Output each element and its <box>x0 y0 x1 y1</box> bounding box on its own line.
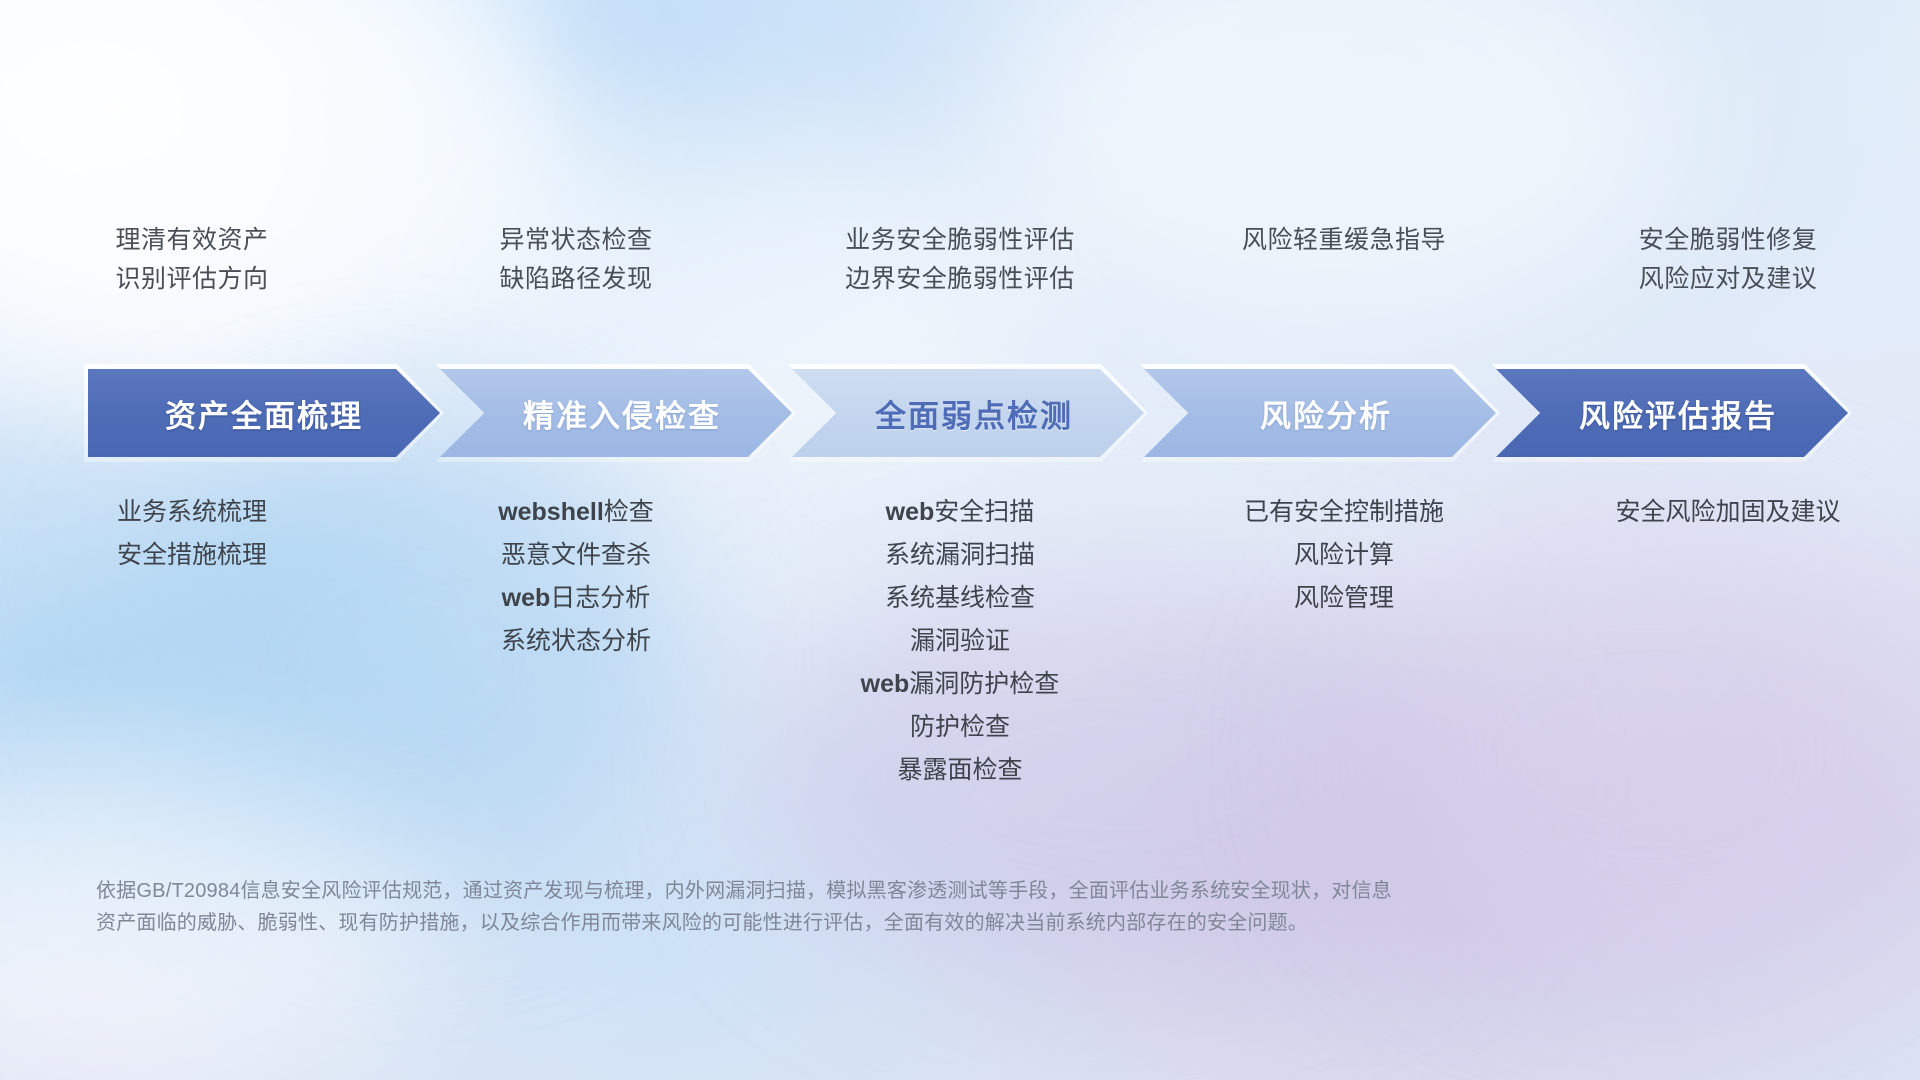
detail-item: 业务系统梳理 <box>117 500 267 525</box>
detail-item: 暴露面检查 <box>897 758 1022 783</box>
stage-chevron-1[interactable]: 资产全面梳理 <box>88 369 440 457</box>
detail-item: 系统状态分析 <box>501 629 651 654</box>
top-caption-group-5: 安全脆弱性修复风险应对及建议 <box>1536 228 1920 338</box>
stage-chevron-3[interactable]: 全面弱点检测 <box>792 369 1144 457</box>
stage-label: 精准入侵检查 <box>511 391 721 436</box>
detail-item: 风险计算 <box>1294 543 1394 568</box>
detail-item: 恶意文件查杀 <box>501 543 651 568</box>
detail-list-1: 业务系统梳理安全措施梳理 <box>0 500 384 568</box>
detail-item: webshell检查 <box>498 500 654 525</box>
footer-description: 依据GB/T20984信息安全风险评估规范，通过资产发现与梳理，内外网漏洞扫描，… <box>96 875 1596 940</box>
detail-item: web安全扫描 <box>886 500 1035 525</box>
top-caption: 缺陷路径发现 <box>499 267 652 292</box>
detail-list-3: web安全扫描系统漏洞扫描系统基线检查漏洞验证web漏洞防护检查防护检查暴露面检… <box>768 500 1152 783</box>
top-caption: 异常状态检查 <box>499 228 652 253</box>
background-wash-1 <box>0 0 580 400</box>
bottom-details-row: 业务系统梳理安全措施梳理webshell检查恶意文件查杀web日志分析系统状态分… <box>0 500 1920 783</box>
stage-chevron-2[interactable]: 精准入侵检查 <box>440 369 792 457</box>
detail-item: 漏洞验证 <box>910 629 1010 654</box>
top-caption-group-1: 理清有效资产识别评估方向 <box>0 228 384 338</box>
stage-label: 资产全面梳理 <box>165 391 363 436</box>
stage-chevron-4[interactable]: 风险分析 <box>1144 369 1496 457</box>
detail-list-5: 安全风险加固及建议 <box>1536 500 1920 525</box>
stage-label: 风险评估报告 <box>1567 391 1777 436</box>
detail-item: web日志分析 <box>502 586 651 611</box>
top-caption-group-3: 业务安全脆弱性评估边界安全脆弱性评估 <box>768 228 1152 338</box>
detail-item: 防护检查 <box>910 715 1010 740</box>
detail-item: 系统基线检查 <box>885 586 1035 611</box>
top-caption: 风险应对及建议 <box>1639 267 1818 292</box>
top-caption-group-4: 风险轻重缓急指导 <box>1152 228 1536 338</box>
top-caption: 边界安全脆弱性评估 <box>845 267 1075 292</box>
detail-item: 安全风险加固及建议 <box>1615 500 1840 525</box>
stage-label: 风险分析 <box>1248 391 1392 436</box>
detail-item: web漏洞防护检查 <box>861 672 1060 697</box>
top-caption: 理清有效资产 <box>115 228 268 253</box>
process-chevron-banner: 资产全面梳理精准入侵检查全面弱点检测风险分析风险评估报告 <box>88 369 1848 457</box>
stage-label: 全面弱点检测 <box>863 391 1073 436</box>
detail-list-2: webshell检查恶意文件查杀web日志分析系统状态分析 <box>384 500 768 654</box>
top-caption: 安全脆弱性修复 <box>1639 228 1818 253</box>
top-caption: 业务安全脆弱性评估 <box>845 228 1075 253</box>
top-caption: 风险轻重缓急指导 <box>1242 228 1446 253</box>
detail-item: 风险管理 <box>1294 586 1394 611</box>
slide-canvas: 理清有效资产识别评估方向异常状态检查缺陷路径发现业务安全脆弱性评估边界安全脆弱性… <box>0 0 1920 1080</box>
detail-list-4: 已有安全控制措施风险计算风险管理 <box>1152 500 1536 611</box>
top-caption-group-2: 异常状态检查缺陷路径发现 <box>384 228 768 338</box>
footer-line-1: 依据GB/T20984信息安全风险评估规范，通过资产发现与梳理，内外网漏洞扫描，… <box>96 875 1596 907</box>
top-captions-row: 理清有效资产识别评估方向异常状态检查缺陷路径发现业务安全脆弱性评估边界安全脆弱性… <box>0 228 1920 338</box>
stage-chevron-5[interactable]: 风险评估报告 <box>1496 369 1848 457</box>
footer-line-2: 资产面临的威胁、脆弱性、现有防护措施，以及综合作用而带来风险的可能性进行评估，全… <box>96 907 1596 939</box>
detail-item: 系统漏洞扫描 <box>885 543 1035 568</box>
detail-item: 已有安全控制措施 <box>1244 500 1444 525</box>
detail-item: 安全措施梳理 <box>117 543 267 568</box>
top-caption: 识别评估方向 <box>115 267 268 292</box>
